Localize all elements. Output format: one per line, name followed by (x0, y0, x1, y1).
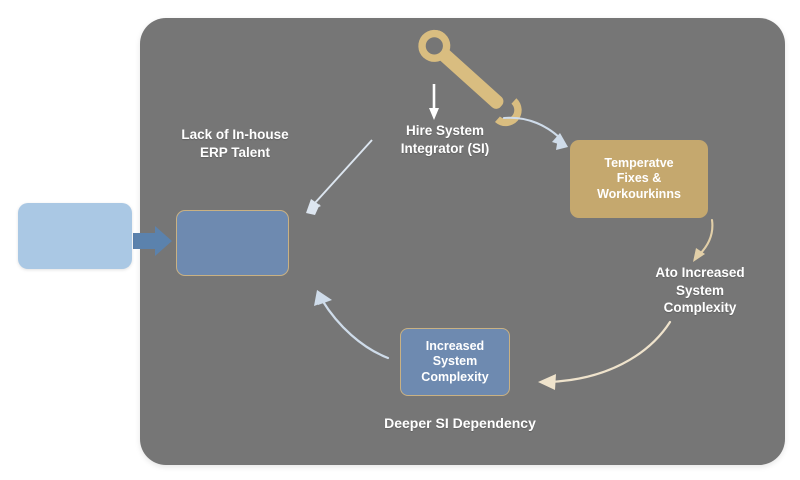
lack-of-inhouse-erp-talent-label: Lack of In-house ERP Talent (150, 126, 320, 161)
hire-system-integrator-label: Hire System Integrator (SI) (370, 122, 520, 157)
increased-complexity-line3: Complexity (421, 370, 488, 384)
temporary-fixes-line3: Workourkinns (597, 187, 681, 201)
ato-line1: Ato Increased (655, 265, 744, 280)
increased-complexity-line1: Increased (426, 339, 484, 353)
increased-complexity-node[interactable]: Increased System Complexity (400, 328, 510, 396)
ato-line3: Complexity (664, 300, 737, 315)
briefcase-node[interactable] (176, 210, 289, 276)
ato-line2: System (676, 283, 724, 298)
deeper-si-text: Deeper SI Dependency (384, 415, 536, 431)
increased-complexity-line2: System (433, 354, 477, 368)
hire-si-line2: Integrator (SI) (401, 141, 490, 156)
lack-talent-line2: ERP Talent (200, 145, 270, 160)
temporary-fixes-line1: Temperatve (604, 156, 673, 170)
temporary-fixes-line2: Fixes & (617, 171, 661, 185)
deeper-si-dependency-label: Deeper SI Dependency (350, 414, 570, 432)
diagram-canvas: Temperatve Fixes & Workourkinns Increase… (0, 0, 800, 480)
temporary-fixes-node[interactable]: Temperatve Fixes & Workourkinns (570, 140, 708, 218)
brain-node[interactable] (18, 203, 132, 269)
hire-si-line1: Hire System (406, 123, 484, 138)
ato-increased-system-complexity-label: Ato Increased System Complexity (620, 264, 780, 317)
lack-talent-line1: Lack of In-house (181, 127, 288, 142)
